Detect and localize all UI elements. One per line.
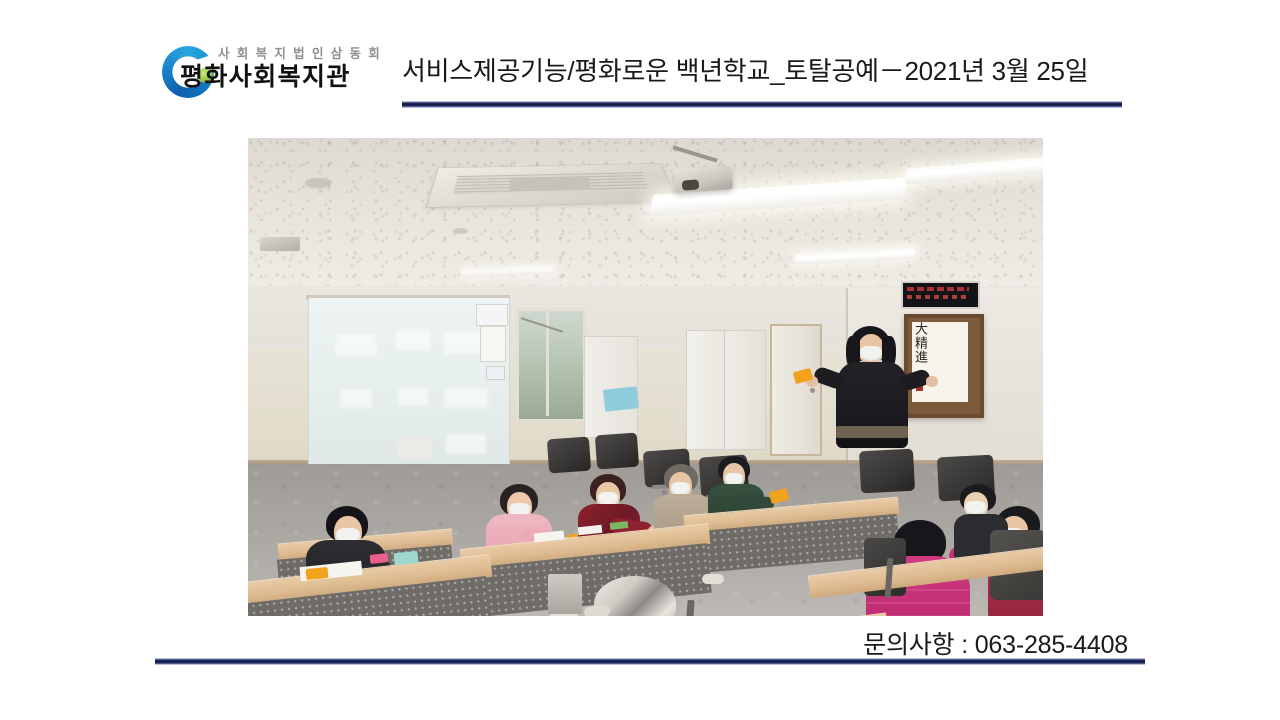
sprinkler-head-icon [453, 228, 468, 234]
shoe [702, 574, 724, 584]
instructor-hand-right [926, 376, 938, 387]
blind-light-patch [396, 330, 430, 350]
craft-material-mint [393, 551, 418, 565]
presentation-slide: 사 회 복 지 법 인 삼 동 회 평화사회복지관 서비스제공기능/평화로운 백… [0, 0, 1280, 720]
slide-header: 사 회 복 지 법 인 삼 동 회 평화사회복지관 서비스제공기능/평화로운 백… [0, 0, 1280, 120]
participant-face-mask [965, 501, 986, 515]
contact-info: 문의사항 : 063-285-4408 [863, 625, 1128, 661]
slide-footer: 문의사항 : 063-285-4408 [0, 616, 1280, 720]
blue-box [603, 386, 639, 411]
wall-notice-2 [480, 326, 506, 362]
activity-photo: 大精進 [248, 138, 1043, 616]
blind-light-patch [336, 334, 376, 356]
instructor-face-mask [860, 346, 882, 361]
chair-backrest [595, 433, 639, 470]
led-text-row-2 [907, 295, 969, 299]
led-text-row-1 [907, 287, 969, 291]
window [516, 308, 586, 422]
chair-backrest [547, 437, 591, 474]
wall-notice-1 [476, 304, 508, 326]
organization-name: 평화사회복지관 [180, 62, 351, 92]
storage-bin [548, 574, 582, 614]
organization-logo: 사 회 복 지 법 인 삼 동 회 평화사회복지관 [162, 44, 402, 112]
slide-title-block: 서비스제공기능/평화로운 백년학교_토탈공예－2021년 3월 25일 [402, 52, 1126, 90]
blind-light-patch [340, 390, 372, 408]
blind-light-patch [444, 388, 488, 408]
header-divider [402, 101, 1122, 108]
chair-backrest [859, 449, 915, 494]
smoke-detector-icon [305, 178, 331, 187]
window-mullion [546, 308, 549, 416]
ceiling-texture [248, 138, 1043, 288]
organization-corporate-name: 사 회 복 지 법 인 삼 동 회 [218, 44, 400, 64]
storage-cabinet [686, 330, 766, 450]
calligraphy-text: 大精進 [912, 322, 927, 364]
door-handle-icon [810, 388, 815, 393]
craft-material-orange [305, 567, 328, 580]
instructor-belt [836, 426, 908, 438]
cabinet-door-seam [724, 330, 725, 448]
projector-lens [682, 179, 700, 190]
secondary-projector [260, 237, 301, 251]
shoe [583, 605, 610, 616]
craft-material-pink [370, 553, 389, 564]
blind-light-patch [446, 434, 486, 454]
logo-text-group: 사 회 복 지 법 인 삼 동 회 평화사회복지관 [218, 44, 408, 64]
plastic-bag [398, 438, 432, 458]
footer-divider [155, 658, 1145, 665]
blind-light-patch [398, 388, 428, 406]
slide-title: 서비스제공기능/평화로운 백년학교_토탈공예－2021년 3월 25일 [402, 52, 1126, 90]
air-conditioner-center-panel [510, 177, 591, 191]
wall-notice-3 [486, 366, 505, 380]
